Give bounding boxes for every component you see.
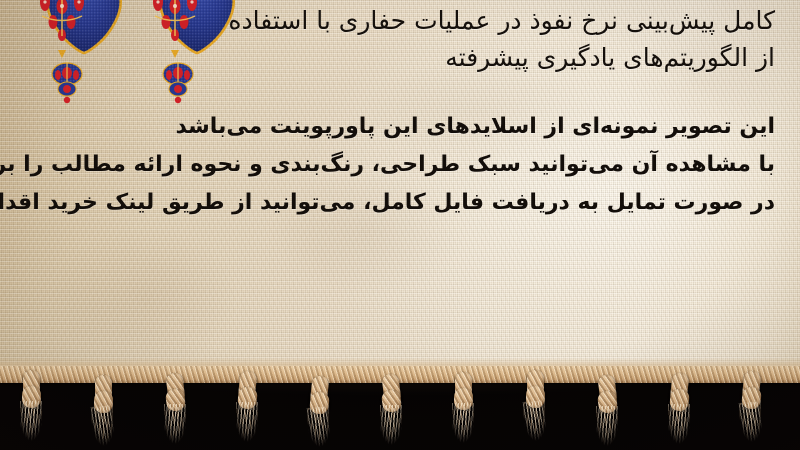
fringe-tassel bbox=[90, 375, 116, 447]
fringe-tassel bbox=[450, 372, 476, 444]
fringe-tassel bbox=[234, 371, 260, 443]
fringe-tassel bbox=[594, 375, 620, 447]
slide-text-layer: کامل پیش‌بینی نرخ نفوذ در عملیات حفاری ب… bbox=[0, 0, 800, 374]
title-line-2: از الگوریتم‌های یادگیری پیشرفته bbox=[15, 39, 775, 76]
fringe-brush bbox=[236, 402, 258, 444]
slide-body: این تصویر نمونه‌ای از اسلایدهای این پاور… bbox=[15, 108, 775, 222]
slide-title: کامل پیش‌بینی نرخ نفوذ در عملیات حفاری ب… bbox=[15, 2, 775, 76]
fringe-brush bbox=[307, 406, 332, 449]
fringe-tassel bbox=[306, 376, 332, 448]
fringe-tassel bbox=[378, 374, 404, 446]
body-line-2: با مشاهده آن می‌توانید سبک طراحی، رنگ‌بن… bbox=[15, 146, 775, 184]
fringe-brush bbox=[668, 404, 690, 446]
fringe-tassel bbox=[738, 371, 764, 443]
fringe-brush bbox=[596, 406, 618, 448]
body-line-1: این تصویر نمونه‌ای از اسلایدهای این پاور… bbox=[15, 108, 775, 146]
fringe-tassel bbox=[162, 373, 188, 445]
fringe-tassel bbox=[522, 370, 548, 442]
slide-canvas: کامل پیش‌بینی نرخ نفوذ در عملیات حفاری ب… bbox=[0, 0, 800, 450]
body-line-3: در صورت تمایل به دریافت فایل کامل، می‌تو… bbox=[15, 184, 775, 222]
title-line-1: کامل پیش‌بینی نرخ نفوذ در عملیات حفاری ب… bbox=[15, 2, 775, 39]
fringe-brush bbox=[380, 405, 402, 447]
fringe-brush bbox=[20, 401, 42, 443]
fringe-brush bbox=[452, 403, 474, 445]
fringe-brush bbox=[164, 404, 186, 446]
fringe-tassel bbox=[18, 370, 44, 442]
fringe-brush bbox=[91, 405, 116, 448]
fringe-brush bbox=[523, 400, 548, 443]
fringe-brush bbox=[739, 401, 764, 444]
carpet-fringe bbox=[0, 366, 800, 450]
fringe-tassel bbox=[666, 373, 692, 445]
